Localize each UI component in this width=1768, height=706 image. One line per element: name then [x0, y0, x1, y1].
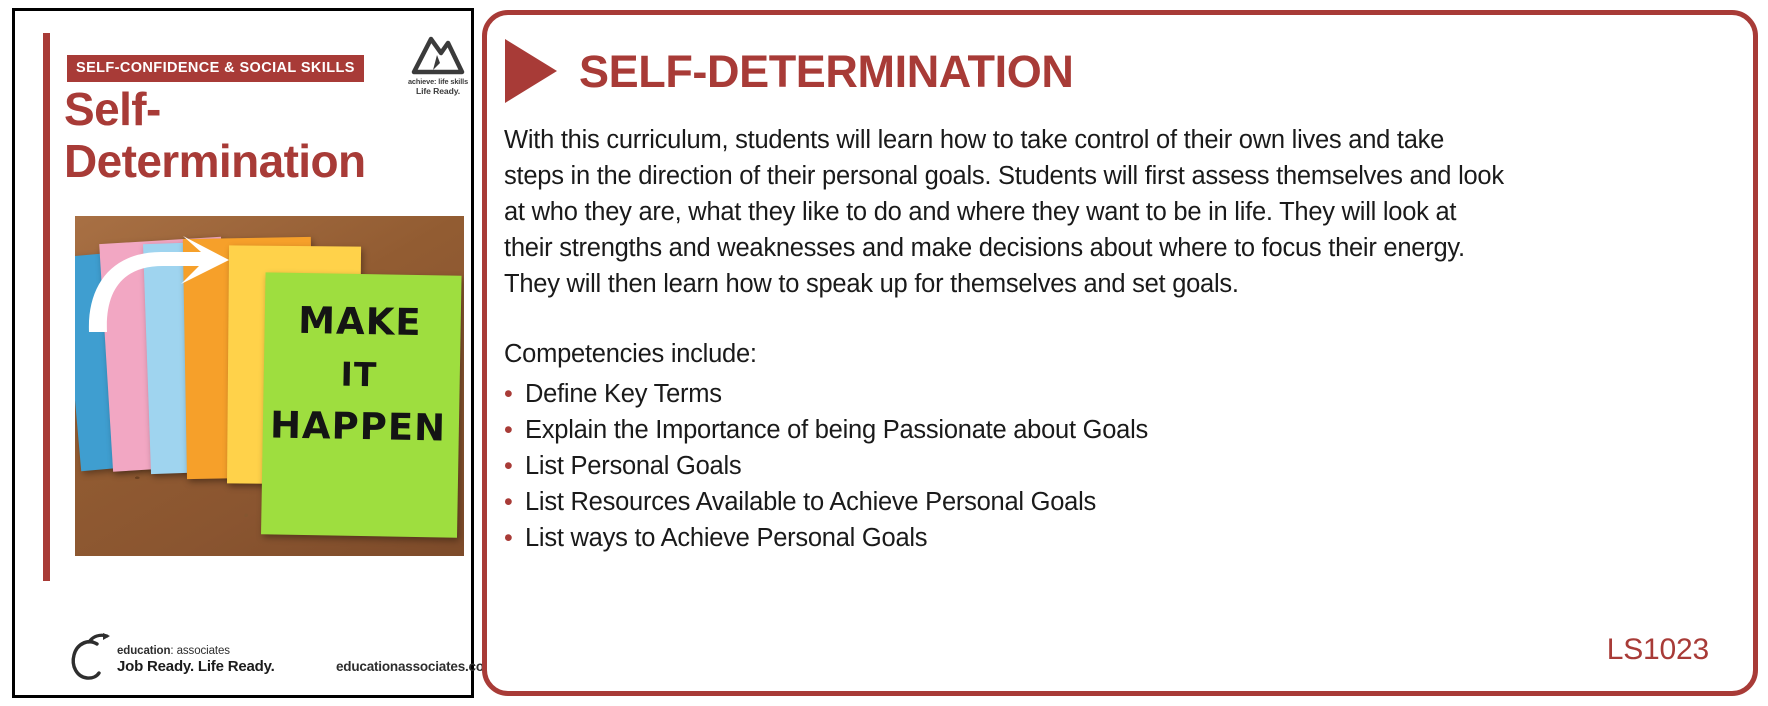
competencies-list: Define Key Terms Explain the Importance …	[504, 377, 1504, 557]
list-item: List Resources Available to Achieve Pers…	[504, 485, 1504, 521]
logo-caption: achieve: life skills Life Ready.	[403, 77, 473, 97]
apple-outline-icon	[67, 633, 111, 686]
cover-card: SELF-CONFIDENCE & SOCIAL SKILLS Self- De…	[12, 8, 474, 698]
list-item: Define Key Terms	[504, 377, 1504, 413]
cover-title-line1: Self-	[64, 84, 394, 136]
education-associates-text: education: associates Job Ready. Life Re…	[117, 645, 275, 675]
triangle-play-icon	[505, 39, 557, 103]
panel-header: SELF-DETERMINATION	[505, 39, 1073, 103]
ea-tagline-line1: education: associates	[117, 645, 275, 657]
note-text-line3: HAPPEN	[260, 397, 457, 456]
achieve-life-skills-logo: achieve: life skills Life Ready.	[403, 33, 473, 97]
panel-description: With this curriculum, students will lear…	[504, 123, 1504, 303]
category-badge: SELF-CONFIDENCE & SOCIAL SKILLS	[67, 55, 364, 82]
cover-accent-bar	[43, 33, 50, 581]
panel-body: With this curriculum, students will lear…	[504, 123, 1504, 556]
logo-caption-line1: achieve: life skills	[403, 77, 473, 86]
product-code: LS1023	[1607, 633, 1709, 667]
sticky-notes-photo: MAKE IT HAPPEN	[75, 216, 464, 556]
list-item: List ways to Achieve Personal Goals	[504, 521, 1504, 557]
education-associates-logo: education: associates Job Ready. Life Re…	[67, 633, 275, 686]
product-card-page: SELF-CONFIDENCE & SOCIAL SKILLS Self- De…	[0, 0, 1768, 706]
description-panel: SELF-DETERMINATION With this curriculum,…	[482, 10, 1758, 696]
ea-word-associates: : associates	[170, 645, 230, 657]
panel-title: SELF-DETERMINATION	[579, 49, 1073, 94]
sticky-note-handwriting: MAKE IT HAPPEN	[260, 292, 459, 456]
logo-caption-line2: Life Ready.	[403, 86, 473, 97]
cover-title-line2: Determination	[64, 136, 394, 188]
ea-word-education: education	[117, 645, 170, 657]
ea-tagline-line2: Job Ready. Life Ready.	[117, 658, 275, 675]
list-item: Explain the Importance of being Passiona…	[504, 413, 1504, 449]
note-text-line2: IT	[261, 348, 458, 401]
cover-title: Self- Determination	[64, 84, 394, 188]
competencies-label: Competencies include:	[504, 337, 1504, 373]
note-text-line1: MAKE	[261, 292, 458, 351]
mountain-peak-icon	[403, 33, 473, 75]
website-url: educationassociates.com	[336, 659, 496, 674]
list-item: List Personal Goals	[504, 449, 1504, 485]
